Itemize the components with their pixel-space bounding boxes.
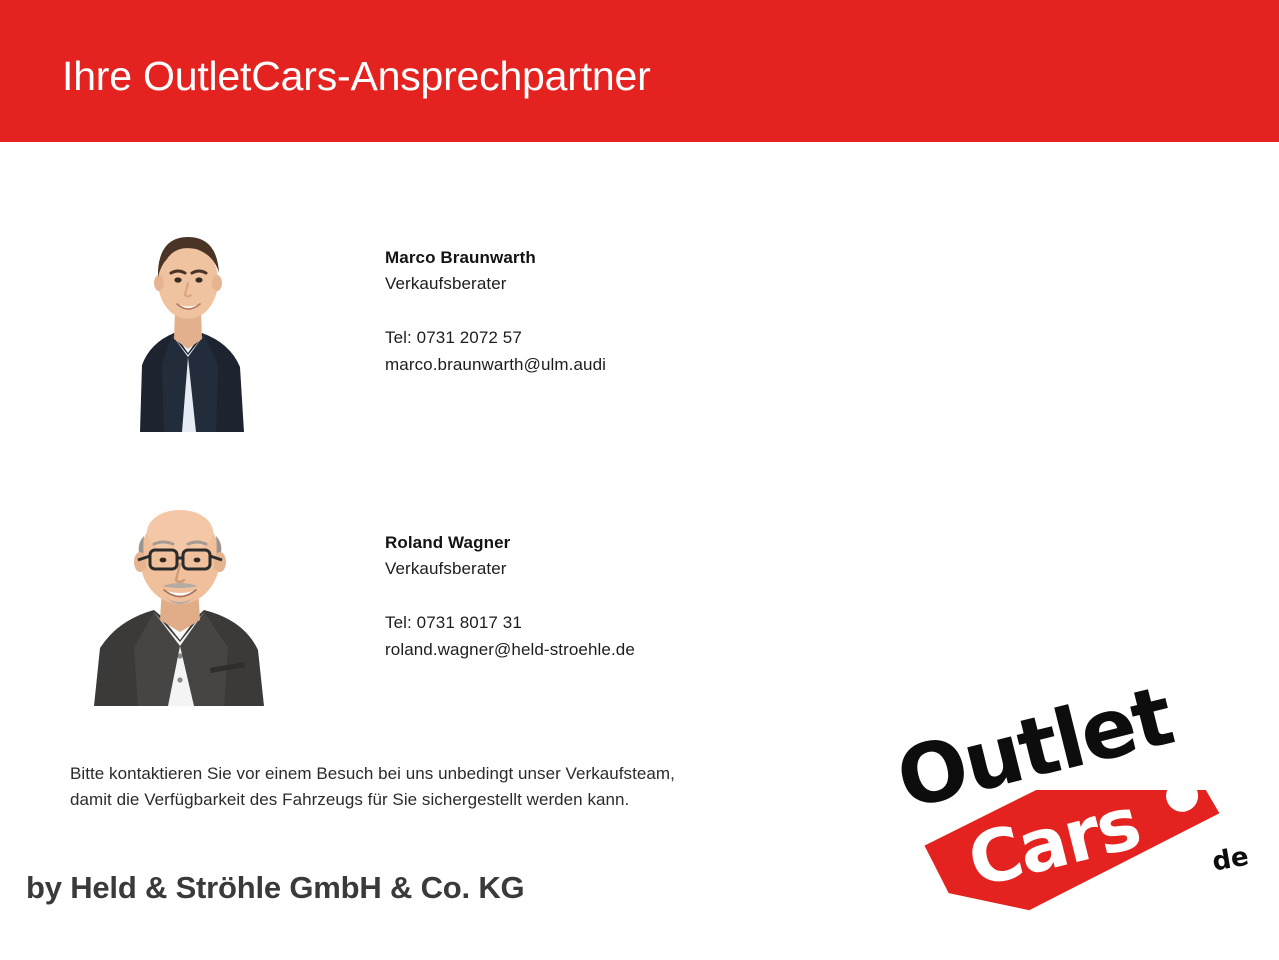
portrait-illustration-2: [72, 500, 282, 706]
contact-role: Verkaufsberater: [385, 555, 905, 582]
availability-note: Bitte kontaktieren Sie vor einem Besuch …: [70, 761, 860, 813]
logo-word-tld: de: [1210, 842, 1251, 878]
contact-name: Marco Braunwarth: [385, 245, 905, 270]
contact-role: Verkaufsberater: [385, 270, 905, 297]
contact-channels-2: Tel: 0731 8017 31 roland.wagner@held-str…: [385, 609, 905, 663]
contact-phone[interactable]: Tel: 0731 8017 31: [385, 609, 905, 636]
portrait-illustration-1: [112, 215, 264, 432]
page-title: Ihre OutletCars-Ansprechpartner: [62, 52, 651, 100]
contact-phone[interactable]: Tel: 0731 2072 57: [385, 324, 905, 351]
contact-details-1: Marco Braunwarth Verkaufsberater Tel: 07…: [385, 245, 905, 378]
outletcars-logo[interactable]: Cars Outlet de: [880, 718, 1275, 953]
contact-details-2: Roland Wagner Verkaufsberater Tel: 0731 …: [385, 530, 905, 663]
note-line-2: damit die Verfügbarkeit des Fahrzeugs fü…: [70, 787, 860, 813]
contact-channels-1: Tel: 0731 2072 57 marco.braunwarth@ulm.a…: [385, 324, 905, 378]
header-banner: Ihre OutletCars-Ansprechpartner: [0, 0, 1279, 142]
contact-name: Roland Wagner: [385, 530, 905, 555]
avatar-roland-wagner: [72, 500, 282, 706]
note-line-1: Bitte kontaktieren Sie vor einem Besuch …: [70, 761, 860, 787]
contact-email[interactable]: marco.braunwarth@ulm.audi: [385, 351, 905, 378]
contact-email[interactable]: roland.wagner@held-stroehle.de: [385, 636, 905, 663]
company-name: by Held & Ströhle GmbH & Co. KG: [26, 870, 524, 906]
contact-page: Ihre OutletCars-Ansprechpartner: [0, 0, 1279, 960]
avatar-marco-braunwarth: [112, 215, 264, 432]
price-tag-shape: Cars: [920, 790, 1250, 950]
